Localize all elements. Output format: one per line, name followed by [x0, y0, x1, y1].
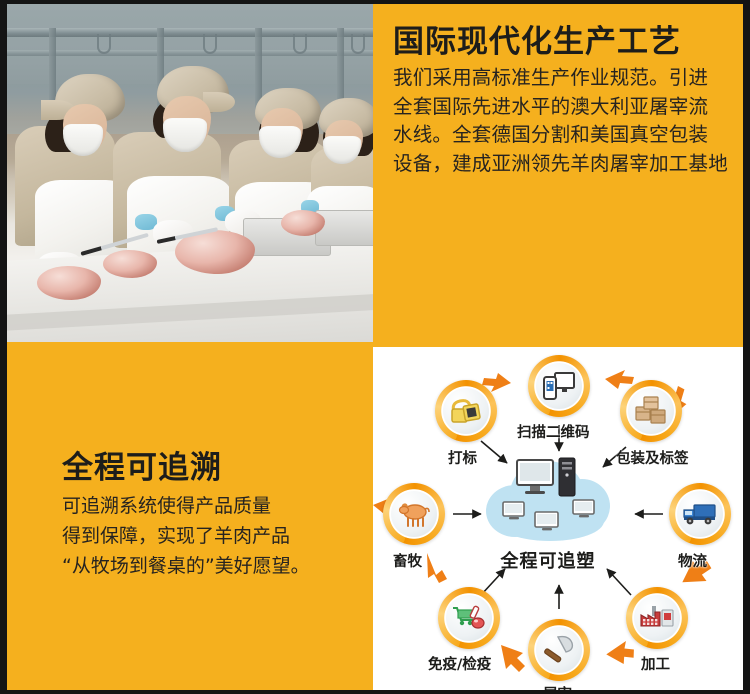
node-tagging[interactable] — [435, 380, 497, 442]
cycle-arrow-slaughter-to-processing — [604, 640, 636, 667]
node-label-livestock: 畜牧 — [393, 550, 422, 571]
frame-edge-right — [743, 0, 750, 694]
intl-process-body-line: 我们采用高标准生产作业规范。引进 — [393, 64, 729, 93]
frame-edge-left — [0, 0, 7, 694]
cycle-arrow-quarantine-to-slaughter — [501, 645, 525, 672]
cloud-computing-icon — [480, 455, 614, 541]
ear-tag-icon — [447, 392, 485, 430]
intl-process-heading: 国际现代化生产工艺 — [393, 24, 681, 60]
conveyor-hook — [351, 34, 365, 54]
conveyor-hook — [203, 34, 217, 54]
client-monitor-icon — [534, 511, 560, 539]
poster-root: 国际现代化生产工艺 我们采用高标准生产作业规范。引进 全套国际先进水平的澳大利亚… — [0, 0, 750, 694]
client-monitor-icon — [572, 499, 596, 525]
truck-icon — [681, 495, 719, 533]
node-packaging[interactable] — [620, 380, 682, 442]
intl-process-body: 我们采用高标准生产作业规范。引进 全套国际先进水平的澳大利亚屠宰流 水线。全套德… — [393, 64, 729, 178]
node-label-logistics: 物流 — [678, 550, 707, 571]
intl-process-body-line: 设备，建成亚洲领先羊肉屠宰加工基地 — [393, 150, 729, 179]
meat-pile — [281, 210, 325, 236]
node-scan-qr[interactable] — [528, 355, 590, 417]
server-tower-icon — [558, 457, 576, 501]
desktop-monitor-icon — [516, 459, 556, 501]
conveyor-hook — [293, 34, 307, 54]
factory-photo-panel — [7, 4, 373, 347]
traceability-body-line: 得到保障，实现了羊肉产品 — [62, 521, 362, 551]
cleaver-icon — [540, 631, 578, 669]
factory-photo — [7, 4, 373, 347]
traceability-diagram-panel: 全程可追塑 — [373, 347, 743, 694]
meat-pile — [37, 266, 101, 300]
traceability-panel: 全程可追溯 可追溯系统使得产品质量 得到保障，实现了羊肉产品 “从牧场到餐桌的”… — [7, 347, 373, 690]
intl-process-body-line: 水线。全套德国分割和美国真空包装 — [393, 121, 729, 150]
node-label-packaging: 包装及标签 — [616, 447, 689, 468]
vaccine-cart-icon — [450, 599, 488, 637]
ceiling-rail — [7, 28, 373, 37]
boxes-icon — [632, 392, 670, 430]
frame-edge-bottom — [0, 690, 750, 694]
traceability-body-line: 可追溯系统使得产品质量 — [62, 491, 362, 521]
node-label-processing: 加工 — [641, 653, 670, 674]
node-quarantine[interactable] — [438, 587, 500, 649]
factory-icon — [638, 599, 676, 637]
sheep-icon — [395, 495, 433, 533]
frame-edge-top — [0, 0, 750, 4]
node-label-tagging: 打标 — [448, 447, 477, 468]
traceability-body-line: “从牧场到餐桌的”美好愿望。 — [62, 551, 362, 581]
center-label: 全程可追塑 — [453, 547, 643, 573]
traceability-body: 可追溯系统使得产品质量 得到保障，实现了羊肉产品 “从牧场到餐桌的”美好愿望。 — [62, 491, 362, 581]
phone-scan-icon — [540, 367, 578, 405]
intl-process-body-line: 全套国际先进水平的澳大利亚屠宰流 — [393, 93, 729, 122]
traceability-cycle-diagram: 全程可追塑 — [373, 347, 743, 694]
node-processing[interactable] — [626, 587, 688, 649]
node-livestock[interactable] — [383, 483, 445, 545]
node-label-quarantine: 免疫/检疫 — [428, 653, 491, 674]
node-slaughter[interactable] — [528, 619, 590, 681]
intl-process-panel: 国际现代化生产工艺 我们采用高标准生产作业规范。引进 全套国际先进水平的澳大利亚… — [373, 0, 743, 347]
cycle-arrow-livestock-to-quarantine — [427, 553, 447, 583]
client-monitor-icon — [502, 501, 526, 527]
traceability-heading: 全程可追溯 — [62, 450, 222, 486]
ceiling-rail-secondary — [7, 50, 373, 56]
conveyor-hook — [97, 34, 111, 54]
node-logistics[interactable] — [669, 483, 731, 545]
node-label-scan-qr: 扫描二维码 — [517, 421, 590, 442]
metal-tray — [315, 210, 373, 246]
cycle-arrow-packaging-to-scan — [605, 370, 634, 389]
meat-pile — [103, 250, 157, 278]
